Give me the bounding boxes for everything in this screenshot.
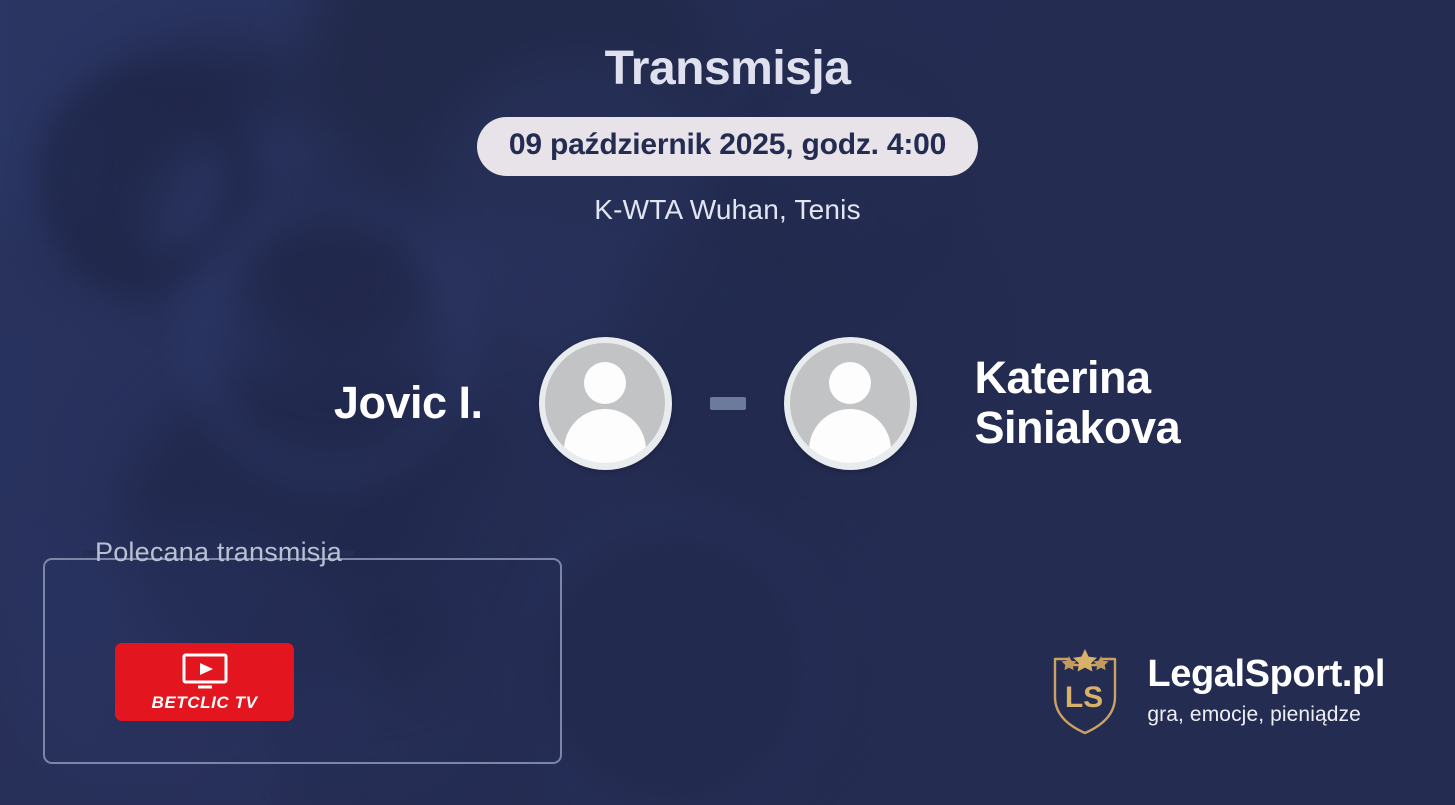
legalsport-shield-icon: LS	[1045, 645, 1125, 737]
away-avatar	[784, 337, 917, 470]
brand-name: LegalSport.pl	[1147, 655, 1385, 695]
match-row: Jovic I. Katerina Siniakova	[0, 308, 1455, 498]
person-placeholder-icon	[790, 343, 910, 463]
person-placeholder-icon	[545, 343, 665, 463]
brand-text: LegalSport.pl gra, emocje, pieniądze	[1147, 655, 1385, 727]
event-competition-subtitle: K-WTA Wuhan, Tenis	[0, 194, 1455, 226]
event-datetime-badge: 09 październik 2025, godz. 4:00	[477, 117, 978, 176]
tv-play-icon	[179, 653, 231, 689]
away-side: Katerina Siniakova	[784, 337, 1264, 470]
betclic-tv-label: BETCLIC TV	[151, 694, 257, 711]
brand-tagline: gra, emocje, pieniądze	[1147, 703, 1385, 727]
svg-text:LS: LS	[1065, 681, 1103, 714]
broadcast-promo-card: Transmisja 09 październik 2025, godz. 4:…	[0, 0, 1455, 805]
avatar-body-shape	[809, 409, 891, 463]
home-avatar	[539, 337, 672, 470]
header: Transmisja 09 październik 2025, godz. 4:…	[0, 44, 1455, 226]
away-player-name: Katerina Siniakova	[975, 353, 1264, 454]
recommended-broadcast-legend: Polecana transmisja	[83, 539, 354, 566]
score-separator	[710, 397, 746, 410]
brand-logo: LS LegalSport.pl gra, emocje, pieniądze	[1045, 645, 1385, 737]
avatar-body-shape	[564, 409, 646, 463]
betclic-tv-button[interactable]: BETCLIC TV	[115, 643, 294, 721]
home-player-name: Jovic I.	[334, 378, 483, 428]
page-title: Transmisja	[0, 44, 1455, 94]
avatar-head-shape	[584, 362, 626, 404]
recommended-broadcast-box: Polecana transmisja BETCLIC TV	[43, 558, 562, 764]
avatar-head-shape	[829, 362, 871, 404]
home-side: Jovic I.	[192, 337, 672, 470]
